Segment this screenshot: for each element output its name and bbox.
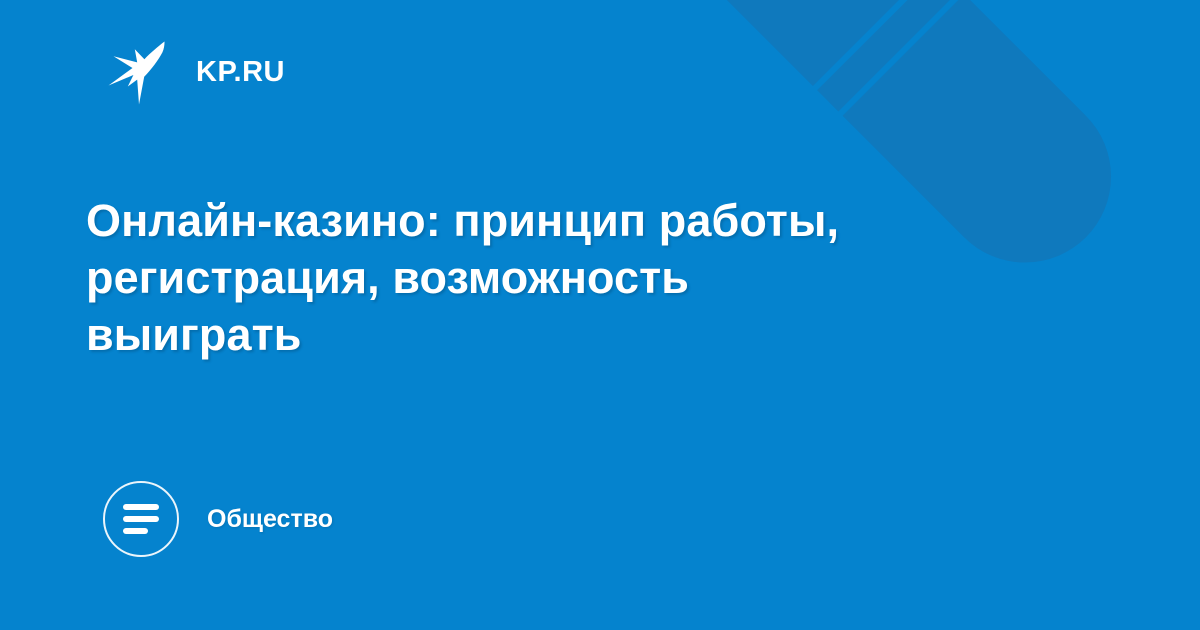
page-title: Онлайн-казино: принцип работы, регистрац…	[86, 192, 1086, 363]
menu-bar-1	[123, 504, 159, 510]
headline-line-1: Онлайн-казино: принцип работы,	[86, 192, 1086, 249]
swallow-bird-icon	[104, 36, 176, 108]
rubric-label[interactable]: Общество	[207, 507, 333, 532]
rubric-row[interactable]: Общество	[103, 481, 333, 557]
headline-line-3: выиграть	[86, 306, 1086, 363]
headline-line-2: регистрация, возможность	[86, 249, 1086, 306]
share-card: KP.RU Онлайн-казино: принцип работы, рег…	[0, 0, 1200, 630]
menu-bar-2	[123, 516, 159, 522]
hamburger-menu-icon[interactable]	[103, 481, 179, 557]
brand-header[interactable]: KP.RU	[104, 36, 285, 108]
brand-name: KP.RU	[196, 58, 285, 87]
menu-bar-3	[123, 528, 148, 534]
